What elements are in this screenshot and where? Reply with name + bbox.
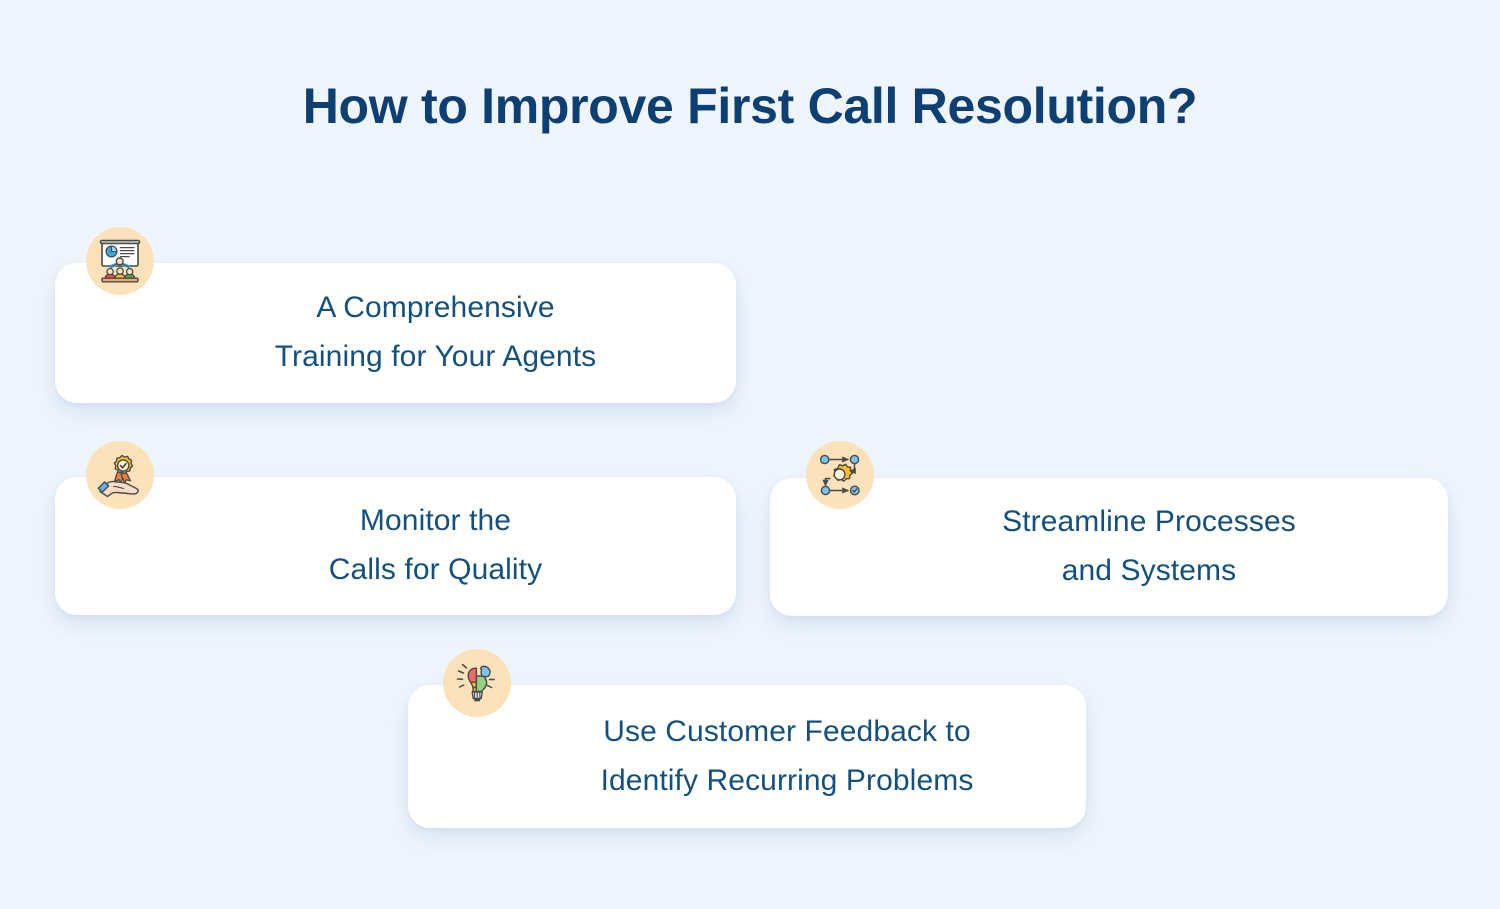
card-label: Use Customer Feedback to Identify Recurr… bbox=[601, 708, 974, 805]
puzzle-lightbulb-icon bbox=[443, 649, 511, 717]
card-label: Monitor the Calls for Quality bbox=[329, 497, 542, 594]
page-title: How to Improve First Call Resolution? bbox=[0, 78, 1500, 136]
card-comprehensive-training[interactable]: A Comprehensive Training for Your Agents bbox=[55, 263, 736, 403]
card-label: A Comprehensive Training for Your Agents bbox=[275, 284, 597, 381]
hand-quality-badge-icon bbox=[86, 441, 154, 509]
infographic-canvas: How to Improve First Call Resolution? A … bbox=[0, 0, 1500, 909]
card-label: Streamline Processes and Systems bbox=[1002, 498, 1296, 595]
card-monitor-calls-quality[interactable]: Monitor the Calls for Quality bbox=[55, 477, 736, 615]
training-presentation-icon bbox=[86, 227, 154, 295]
process-workflow-gear-icon bbox=[806, 441, 874, 509]
card-streamline-processes[interactable]: Streamline Processes and Systems bbox=[770, 478, 1448, 616]
card-customer-feedback[interactable]: Use Customer Feedback to Identify Recurr… bbox=[408, 685, 1086, 828]
